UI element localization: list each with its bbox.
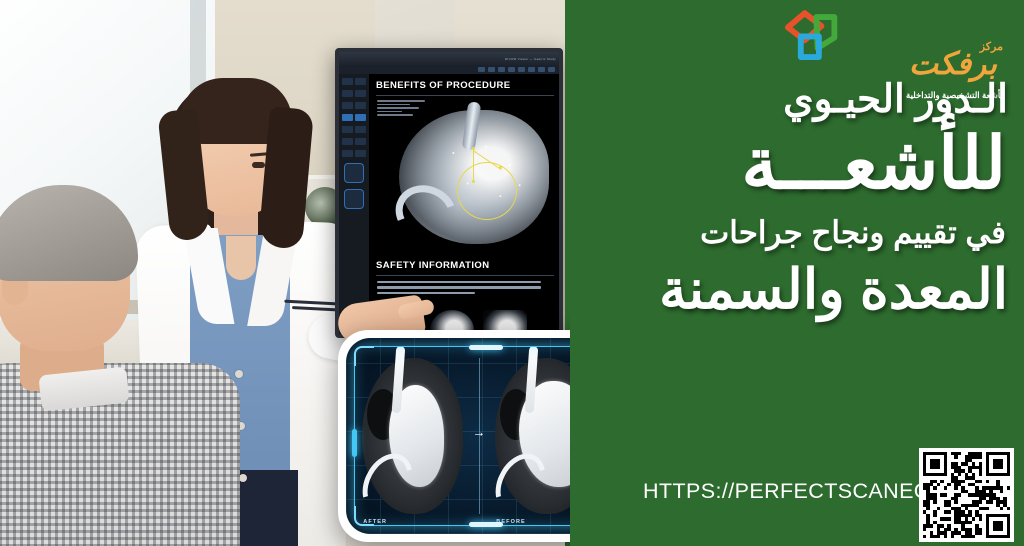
- patient-figure: [0, 185, 240, 546]
- perfect-scan-cubes-icon: [782, 8, 848, 70]
- measurement-point: [472, 147, 475, 150]
- safety-rule: [376, 275, 554, 276]
- benefits-heading: BENEFITS OF PROCEDURE: [376, 80, 511, 91]
- viewer-toolbar: [339, 65, 559, 74]
- medical-display-monitor: DICOM Viewer — Gastric Study BENEFITS OF…: [335, 48, 563, 338]
- safety-heading: SAFETY INFORMATION: [376, 260, 489, 271]
- sidebar-row: [341, 150, 367, 157]
- patient-hair: [0, 185, 138, 281]
- doctor-eye-left: [252, 162, 265, 168]
- hud-corner-icon: [354, 346, 374, 366]
- sidebar-settings-icon: [344, 189, 364, 209]
- gastric-scan-image: [381, 104, 561, 254]
- measurement-line-vertical: [473, 148, 474, 182]
- coat-button-3: [239, 474, 247, 482]
- measurement-point: [499, 166, 502, 169]
- headline-line-1: الـدور الحيـوي: [572, 78, 1012, 123]
- green-content-panel: مركز برفكت لأشعة التشخيصية والتداخلية ال…: [565, 0, 1024, 546]
- qr-code[interactable]: [919, 448, 1014, 542]
- headline-line-4: المعدة والسمنة: [572, 259, 1012, 320]
- promo-banner: DICOM Viewer — Gastric Study BENEFITS OF…: [0, 0, 1024, 546]
- viewer-titlebar-text: DICOM Viewer — Gastric Study: [505, 57, 556, 61]
- brand-wordmark: مركز برفكت: [847, 22, 1007, 82]
- measurement-circle: [457, 162, 517, 220]
- heading-rule: [376, 95, 554, 96]
- before-after-inset: BEFORE AFTER →: [338, 330, 570, 542]
- headline-line-2: للأشعـــة: [572, 125, 1012, 204]
- hud-notch: [469, 522, 503, 527]
- sidebar-row: [341, 90, 367, 97]
- hud-notch: [352, 429, 357, 457]
- sidebar-row: [341, 102, 367, 109]
- sidebar-row: [341, 126, 367, 133]
- hud-notch: [469, 345, 503, 350]
- hud-corner-icon: [354, 506, 374, 526]
- brand-name-label: برفكت: [909, 48, 997, 79]
- headline-group: الـدور الحيـوي للأشعـــة في تقييم ونجاح …: [572, 78, 1012, 320]
- qr-code-grid: [923, 452, 1010, 538]
- viewer-canvas: BENEFITS OF PROCEDURE SAFE: [369, 74, 559, 334]
- sidebar-row: [341, 78, 367, 85]
- clinic-photo: DICOM Viewer — Gastric Study BENEFITS OF…: [0, 0, 570, 546]
- hud-frame: [354, 346, 570, 526]
- headline-line-3: في تقييم ونجاح جراحات: [572, 214, 1012, 251]
- sidebar-row-active: [341, 114, 367, 121]
- sidebar-row: [341, 138, 367, 145]
- measurement-point: [472, 180, 475, 183]
- inset-screen: BEFORE AFTER →: [346, 338, 570, 534]
- sidebar-tool-icon: [344, 163, 364, 183]
- viewer-titlebar: DICOM Viewer — Gastric Study: [339, 52, 559, 65]
- viewer-sidebar: [339, 74, 369, 334]
- safety-body-text: [377, 281, 541, 297]
